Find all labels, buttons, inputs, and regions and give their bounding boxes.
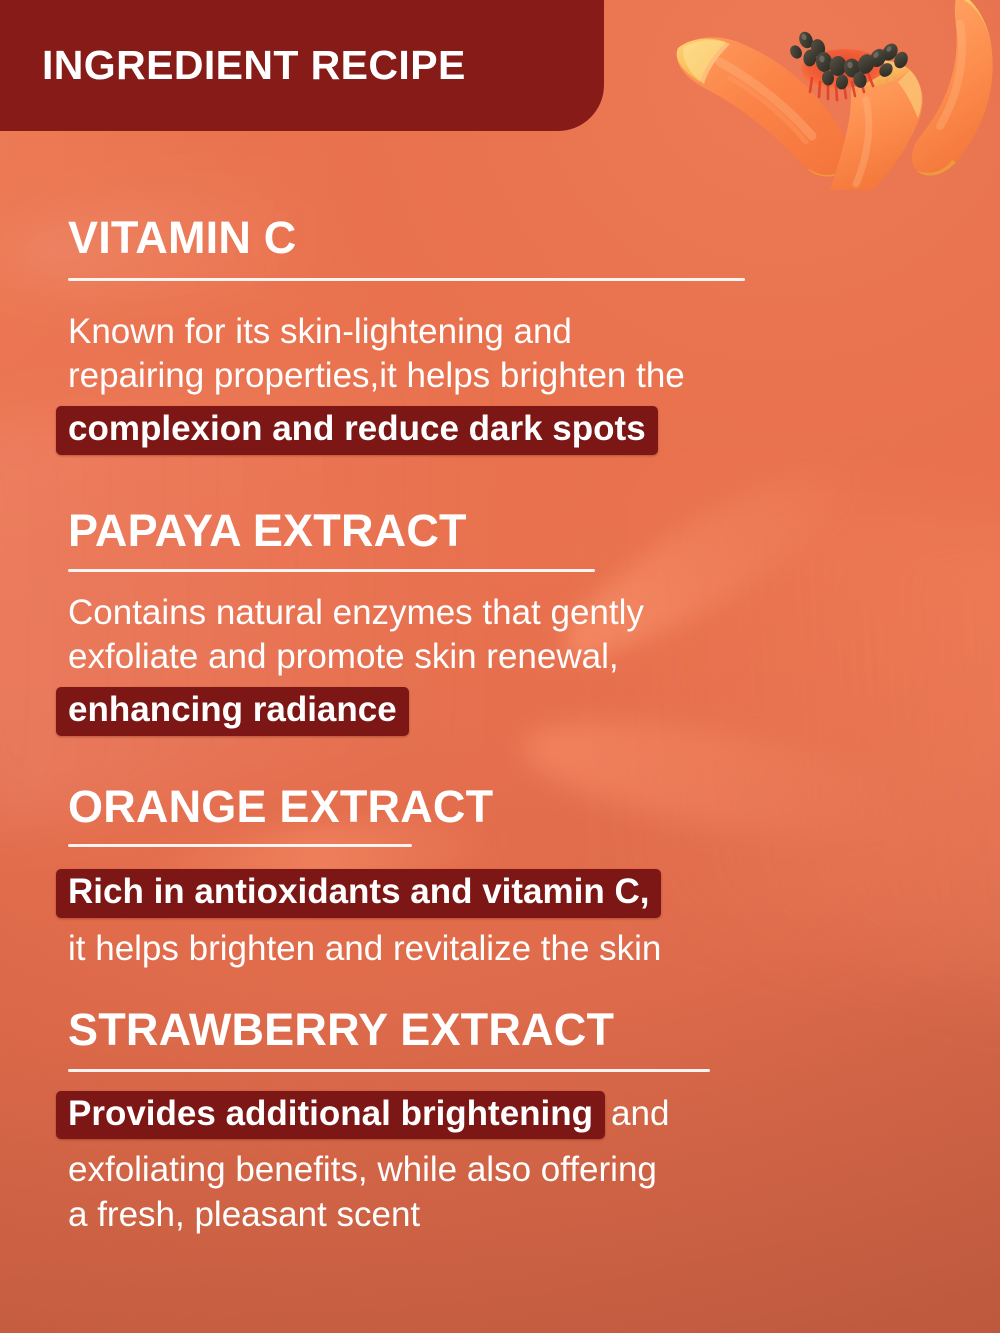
ingredient-section-strawberry-extract: STRAWBERRY EXTRACT Provides additional b…	[0, 1007, 1000, 1237]
body-line: exfoliate and promote skin renewal,	[68, 635, 1000, 679]
body-line: it helps brighten and revitalize the ski…	[68, 927, 1000, 971]
section-underline-orange-extract	[68, 844, 412, 847]
header-banner: INGREDIENT RECIPE	[0, 0, 604, 131]
ingredient-section-vitamin-c: VITAMIN C Known for its skin-lightening …	[0, 215, 1000, 455]
body-line-highlighted: complexion and reduce dark spots	[68, 406, 1000, 455]
body-line: repairing properties,it helps brighten t…	[68, 354, 1000, 398]
body-line-highlighted: Provides additional brighteningand	[68, 1091, 1000, 1140]
body-line-highlighted: Rich in antioxidants and vitamin C,	[68, 869, 1000, 918]
section-underline-vitamin-c	[68, 278, 745, 281]
section-title-vitamin-c: VITAMIN C	[0, 215, 1000, 260]
body-line: exfoliating benefits, while also offerin…	[68, 1148, 1000, 1192]
section-body-papaya-extract: Contains natural enzymes that gently exf…	[0, 591, 1000, 736]
highlight-badge: enhancing radiance	[56, 687, 409, 736]
highlight-badge: Provides additional brightening	[56, 1091, 605, 1140]
highlight-badge: Rich in antioxidants and vitamin C,	[56, 869, 661, 918]
section-underline-strawberry-extract	[68, 1069, 710, 1072]
section-body-strawberry-extract: Provides additional brighteningand exfol…	[0, 1091, 1000, 1237]
body-line-trailing: and	[611, 1094, 669, 1133]
ingredient-section-orange-extract: ORANGE EXTRACT Rich in antioxidants and …	[0, 784, 1000, 971]
section-title-strawberry-extract: STRAWBERRY EXTRACT	[0, 1007, 1000, 1052]
body-line: Contains natural enzymes that gently	[68, 591, 1000, 635]
section-title-orange-extract: ORANGE EXTRACT	[0, 784, 1000, 829]
ingredient-list: VITAMIN C Known for its skin-lightening …	[0, 131, 1000, 1237]
body-line-highlighted: enhancing radiance	[68, 687, 1000, 736]
section-underline-papaya-extract	[68, 569, 595, 572]
section-title-papaya-extract: PAPAYA EXTRACT	[0, 508, 1000, 553]
ingredient-section-papaya-extract: PAPAYA EXTRACT Contains natural enzymes …	[0, 508, 1000, 736]
body-line: Known for its skin-lightening and	[68, 310, 1000, 354]
body-line: a fresh, pleasant scent	[68, 1193, 1000, 1237]
page-title: INGREDIENT RECIPE	[0, 45, 466, 86]
highlight-badge: complexion and reduce dark spots	[56, 406, 658, 455]
section-body-vitamin-c: Known for its skin-lightening and repair…	[0, 310, 1000, 455]
section-body-orange-extract: Rich in antioxidants and vitamin C, it h…	[0, 869, 1000, 971]
